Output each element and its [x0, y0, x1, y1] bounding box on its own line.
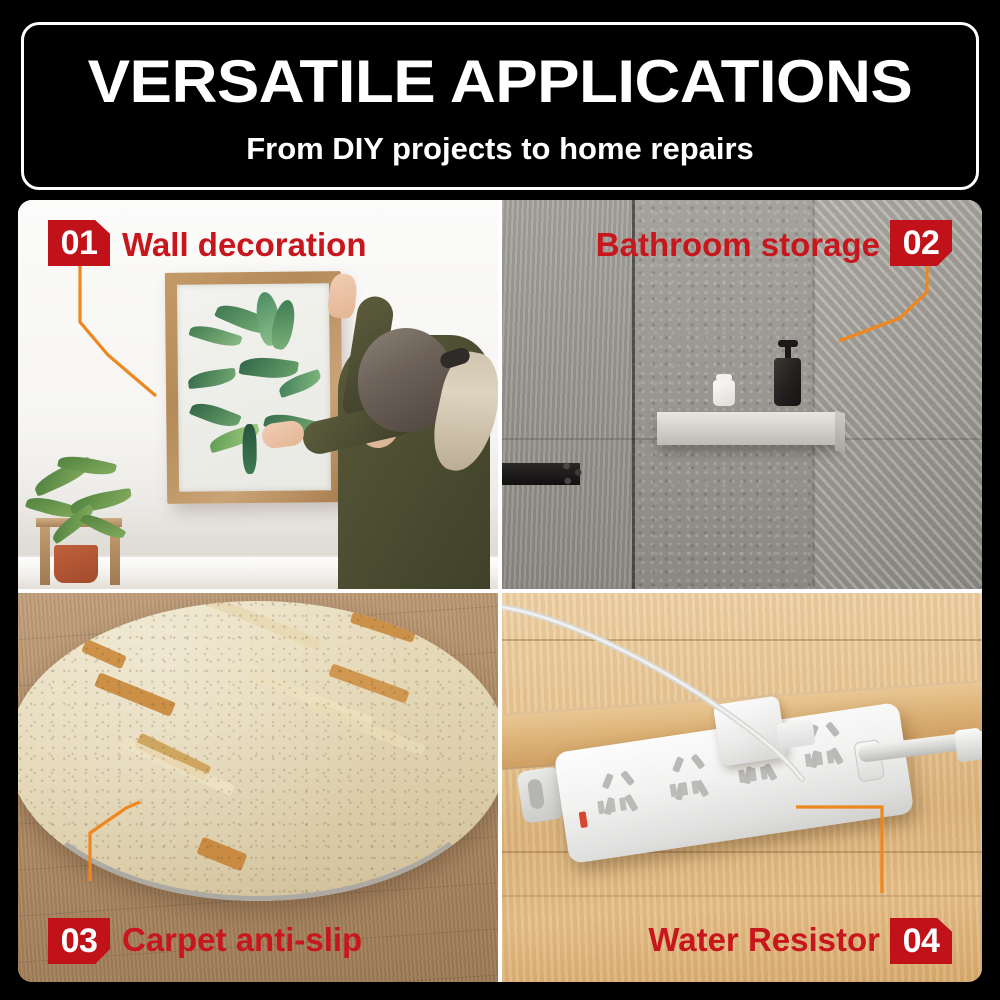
usb-charger-adapter: [713, 695, 787, 766]
badge-02: 02: [890, 220, 952, 266]
bathroom-jar-lid: [716, 374, 732, 381]
page-subtitle: From DIY projects to home repairs: [246, 133, 754, 164]
header-band: VERSATILE APPLICATIONS From DIY projects…: [0, 0, 1000, 195]
rug-stripe-light: [310, 701, 425, 756]
rug-stripe-light: [249, 669, 374, 728]
wall-shelf-end-cap: [835, 411, 845, 454]
page-title: VERSATILE APPLICATIONS: [88, 52, 913, 112]
plant-stand-leg: [40, 519, 50, 585]
caption-bathroom-storage: Bathroom storage: [596, 228, 880, 261]
panel-wall-decoration[interactable]: 01 Wall decoration: [18, 200, 498, 589]
rug-stripe: [134, 733, 211, 782]
badge-01: 01: [48, 220, 110, 266]
wood-grain-line: [502, 895, 982, 897]
round-rug: [18, 601, 498, 901]
power-socket: [663, 745, 727, 809]
caption-carpet-anti-slip: Carpet anti-slip: [122, 923, 362, 956]
caption-wall-decoration: Wall decoration: [122, 228, 366, 261]
usb-charger-nose: [776, 718, 815, 749]
drill-bit-tips: [560, 458, 586, 490]
bathroom-jar: [713, 380, 735, 406]
desk-rod-cap: [954, 728, 982, 763]
botanical-leaf: [189, 398, 242, 432]
panel-bathroom-storage[interactable]: 02 Bathroom storage: [502, 200, 982, 589]
application-grid: 01 Wall decoration 02: [18, 200, 982, 982]
panel-carpet-anti-slip[interactable]: 03 Carpet anti-slip: [18, 593, 498, 982]
rug-stripe: [350, 611, 416, 643]
caption-water-resistor: Water Resistor: [648, 923, 880, 956]
header-box: VERSATILE APPLICATIONS From DIY projects…: [21, 22, 979, 190]
badge-03: 03: [48, 918, 110, 964]
product-infographic: VERSATILE APPLICATIONS From DIY projects…: [0, 0, 1000, 1000]
badge-04: 04: [890, 918, 952, 964]
botanical-fern: [242, 424, 257, 474]
wall-shelf: [657, 412, 837, 445]
rug-stripe: [94, 672, 176, 717]
rug-stripe-light: [121, 737, 235, 796]
rug-stripe-light: [206, 601, 321, 650]
wood-grain-line: [502, 639, 982, 641]
power-socket: [592, 761, 656, 825]
botanical-leaf: [239, 354, 299, 381]
rug-stripe: [81, 639, 127, 670]
rug-stripe: [328, 663, 410, 703]
rug-stripe: [196, 837, 247, 872]
panel-water-resistor[interactable]: 04 Water Resistor: [502, 593, 982, 982]
frame-mat: [177, 283, 331, 492]
botanical-leaf: [188, 321, 242, 351]
picture-frame: [165, 271, 343, 504]
power-led: [579, 811, 588, 828]
botanical-leaf: [187, 368, 237, 389]
soap-dispenser: [774, 358, 801, 406]
plant-pot: [54, 545, 98, 583]
